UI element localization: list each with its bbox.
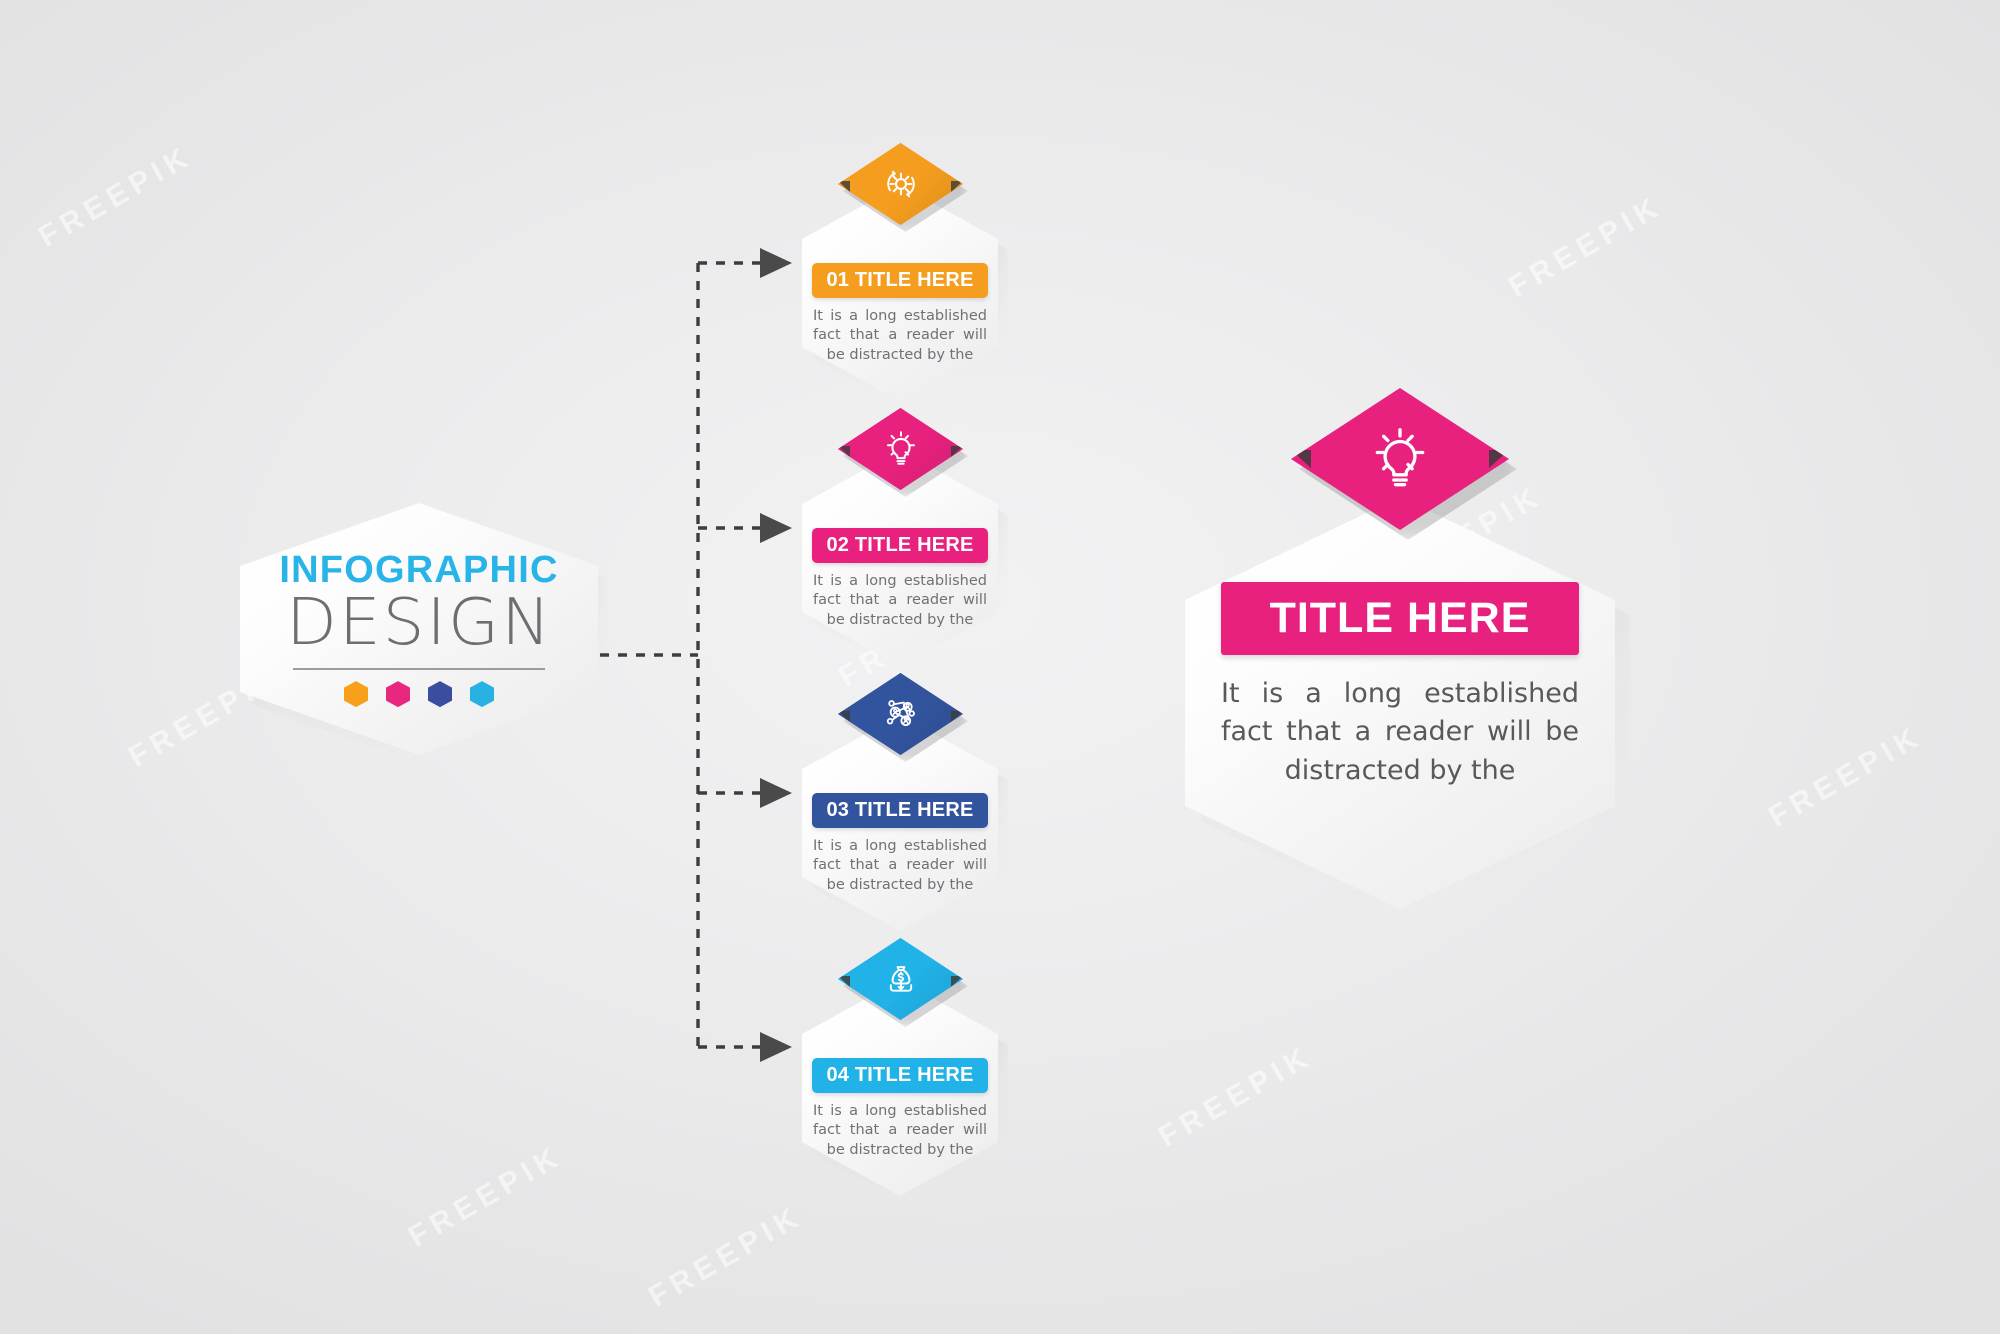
connector-lines <box>600 263 760 1047</box>
gear-refresh-icon <box>878 161 924 207</box>
watermark: FREEPIK <box>403 1139 569 1254</box>
network-users-icon <box>878 691 924 737</box>
brand-divider <box>293 668 545 670</box>
hex-dot-cyan <box>470 681 494 707</box>
hex-dot-orange <box>344 681 368 707</box>
watermark: FREEPIK <box>643 1199 809 1314</box>
watermark: FREEPIK <box>1153 1039 1319 1154</box>
feature-card[interactable]: TITLE HERE It is a long established fact… <box>1185 497 1615 909</box>
step-title-pill-2[interactable]: 02 TITLE HERE <box>812 528 988 563</box>
watermark: FREEPIK <box>1763 719 1929 834</box>
feature-title-pill[interactable]: TITLE HERE <box>1221 582 1579 655</box>
feature-description: It is a long established fact that a rea… <box>1221 675 1579 790</box>
brand-title-primary: INFOGRAPHIC <box>279 551 558 589</box>
arrowhead-step-1 <box>760 248 792 278</box>
brand-block: INFOGRAPHIC DESIGN <box>240 503 598 755</box>
brand-title-secondary: DESIGN <box>286 591 552 656</box>
hex-dot-magenta <box>386 681 410 707</box>
arrowhead-step-2 <box>760 513 792 543</box>
step-description-4: It is a long established fact that a rea… <box>811 1102 989 1160</box>
arrowhead-step-3 <box>760 778 792 808</box>
feature-diamond-notch-left <box>1291 450 1311 468</box>
step-title-pill-4[interactable]: 04 TITLE HERE <box>812 1058 988 1093</box>
lightbulb-icon <box>1360 419 1440 499</box>
step-description-3: It is a long established fact that a rea… <box>811 837 989 895</box>
hex-dot-navy <box>428 681 452 707</box>
brand-hex-dots <box>344 681 494 707</box>
watermark: FREEPIK <box>33 139 199 254</box>
connector-arrowheads <box>760 248 792 1062</box>
watermark: FREEPIK <box>1503 189 1669 304</box>
step-description-2: It is a long established fact that a rea… <box>811 572 989 630</box>
money-bag-icon <box>878 956 924 1002</box>
step-description-1: It is a long established fact that a rea… <box>811 307 989 365</box>
step-title-pill-3[interactable]: 03 TITLE HERE <box>812 793 988 828</box>
step-title-pill-1[interactable]: 01 TITLE HERE <box>812 263 988 298</box>
lightbulb-icon <box>878 426 924 472</box>
arrowhead-step-4 <box>760 1032 792 1062</box>
